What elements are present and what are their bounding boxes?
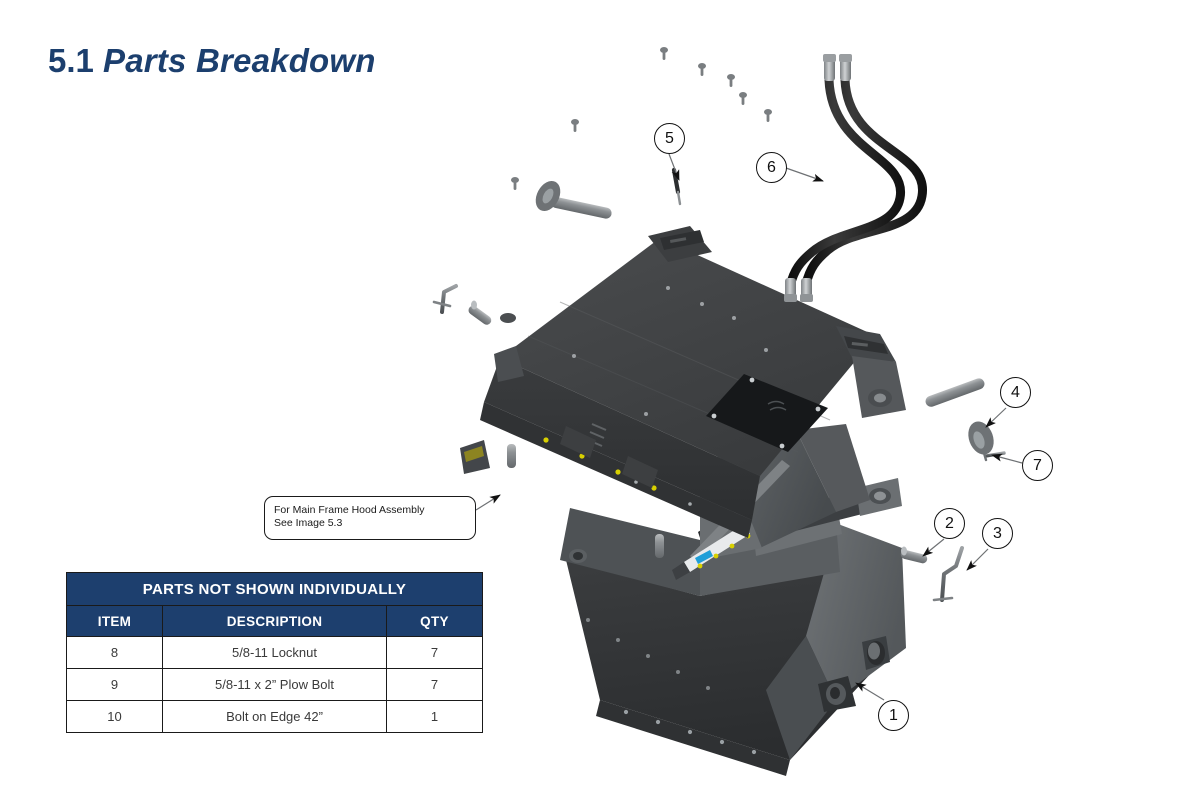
leader-line-4 [986, 408, 1006, 427]
balloon-label: 4 [1011, 384, 1020, 402]
leader-line-3 [967, 549, 988, 570]
cell-qty: 7 [387, 669, 483, 701]
cell-description: 5/8-11 x 2” Plow Bolt [163, 669, 387, 701]
balloon-callout-3[interactable]: 3 [982, 518, 1013, 549]
table-row: 10 Bolt on Edge 42” 1 [67, 701, 483, 733]
leader-line-1 [856, 683, 884, 700]
part-handle-pin-left [531, 177, 613, 220]
part-small-bolts-row [511, 47, 772, 190]
machine-assembly [460, 226, 906, 776]
parts-not-shown-table: PARTS NOT SHOWN INDIVIDUALLY ITEM DESCRI… [66, 572, 482, 733]
callout-note-line-1: For Main Frame Hood Assembly [274, 504, 466, 517]
leader-line-2 [923, 539, 944, 556]
column-header-item: ITEM [67, 606, 163, 637]
cell-item: 10 [67, 701, 163, 733]
table-title: PARTS NOT SHOWN INDIVIDUALLY [67, 573, 483, 606]
part-cylindrical-pin-left [467, 301, 493, 327]
balloon-callout-4[interactable]: 4 [1000, 377, 1031, 408]
cell-qty: 7 [387, 637, 483, 669]
table-row: 8 5/8-11 Locknut 7 [67, 637, 483, 669]
cell-item: 8 [67, 637, 163, 669]
part-lynch-pin-left [434, 286, 456, 312]
callout-note-line-2: See Image 5.3 [274, 517, 466, 530]
balloon-callout-5[interactable]: 5 [654, 123, 685, 154]
column-header-description: DESCRIPTION [163, 606, 387, 637]
cell-qty: 1 [387, 701, 483, 733]
balloon-label: 5 [665, 130, 674, 148]
callout-note-box: For Main Frame Hood Assembly See Image 5… [264, 496, 476, 540]
cell-description: Bolt on Edge 42” [163, 701, 387, 733]
balloon-label: 1 [889, 707, 898, 725]
part-handle-pin-right [924, 377, 998, 458]
balloon-label: 6 [767, 159, 776, 177]
table-title-row: PARTS NOT SHOWN INDIVIDUALLY [67, 573, 483, 606]
balloon-callout-2[interactable]: 2 [934, 508, 965, 539]
leader-line-note [476, 495, 500, 510]
part-hitch-pin [984, 453, 1004, 460]
balloon-callout-6[interactable]: 6 [756, 152, 787, 183]
balloon-label: 7 [1033, 457, 1042, 475]
leader-line-6 [786, 168, 823, 181]
column-header-qty: QTY [387, 606, 483, 637]
cell-description: 5/8-11 Locknut [163, 637, 387, 669]
table-header-row: ITEM DESCRIPTION QTY [67, 606, 483, 637]
table-row: 9 5/8-11 x 2” Plow Bolt 7 [67, 669, 483, 701]
balloon-callout-7[interactable]: 7 [1022, 450, 1053, 481]
balloon-label: 3 [993, 525, 1002, 543]
cell-item: 9 [67, 669, 163, 701]
leader-line-7 [992, 455, 1022, 463]
part-lynch-pin-right [934, 548, 962, 600]
balloon-label: 2 [945, 515, 954, 533]
part-hydraulic-hoses [784, 54, 923, 302]
balloon-callout-1[interactable]: 1 [878, 700, 909, 731]
